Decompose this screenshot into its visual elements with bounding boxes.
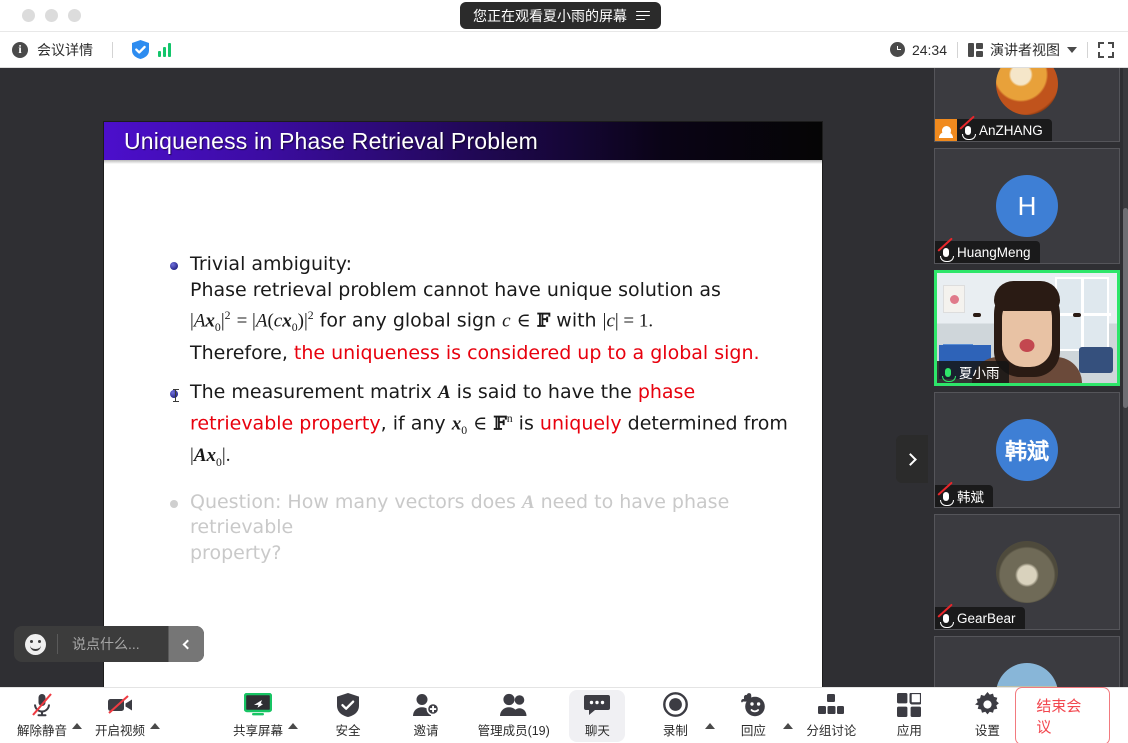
close-button[interactable] [22, 9, 35, 22]
slide-bullet-1-text: Trivial ambiguity: Phase retrieval probl… [190, 252, 760, 366]
slide-bullet-3-text: Question: How many vectors does A need t… [190, 490, 792, 567]
bullet-dot-icon [170, 262, 178, 270]
participants-icon [500, 692, 528, 717]
bullet-dot-icon [170, 500, 178, 508]
meeting-infobar: i 会议详情 24:34 演讲者视图 [0, 32, 1128, 68]
bullet1-line4: Therefore, the uniqueness is considered … [190, 341, 760, 367]
toolbar-video-button[interactable]: 开启视频 [92, 690, 148, 742]
bullet1-line2: Phase retrieval problem cannot have uniq… [190, 279, 721, 301]
participant-tile-active-speaker[interactable]: 夏小雨 [934, 270, 1120, 386]
avatar: 韩斌 [996, 419, 1058, 481]
toolbar-chat-label: 聊天 [585, 720, 610, 739]
chevron-right-icon [904, 453, 917, 466]
participant-tile[interactable]: H HuangMeng [934, 148, 1120, 264]
infobar-right-controls: 24:34 演讲者视图 [890, 40, 1114, 60]
toolbar-security-button[interactable]: 安全 [320, 690, 376, 742]
end-meeting-button[interactable]: 结束会议 [1015, 687, 1110, 743]
avatar: H [996, 175, 1058, 237]
slide-bullet-2-text: The measurement matrix A is said to have… [190, 380, 792, 475]
share-screen-icon [244, 692, 272, 717]
chevron-left-icon [183, 639, 193, 649]
participant-label: 韩斌 [935, 485, 993, 507]
chat-compose-bar[interactable]: 说点什么... [14, 626, 204, 662]
mute-options-chevron-icon[interactable] [72, 723, 82, 729]
wall-picture-prop [943, 285, 965, 313]
bullet2-part4: is [513, 412, 540, 434]
participant-tile[interactable]: AnZHANG [934, 68, 1120, 142]
filmstrip-scrollbar[interactable] [1123, 68, 1128, 687]
toolbar-apps-label: 应用 [897, 720, 922, 739]
person-eye [973, 313, 981, 317]
person-mouth [1020, 339, 1035, 352]
toolbar-reactions-label: 回应 [741, 720, 766, 739]
meeting-timer-value: 24:34 [912, 42, 947, 58]
toolbar-mute-label: 解除静音 [17, 720, 67, 739]
participant-tile[interactable] [934, 636, 1120, 687]
info-icon: i [12, 42, 28, 58]
signal-strength-icon[interactable] [158, 43, 171, 57]
bullet3-part3: property? [190, 542, 281, 564]
host-badge-icon [935, 119, 957, 141]
bullet1-formula: |Ax0|2 = |A(cx0)|2 for any global sign c… [190, 303, 760, 341]
bullet3-part1: Question: How many vectors does [190, 491, 522, 513]
participant-tile[interactable]: 韩斌 韩斌 [934, 392, 1120, 508]
person-eye [1073, 313, 1081, 317]
slide-bullet-2: The measurement matrix A is said to have… [170, 380, 792, 475]
bullet1-line4-red: the uniqueness is considered up to a glo… [294, 342, 760, 364]
window-titlebar: 您正在观看夏小雨的屏幕 [0, 0, 1128, 32]
microphone-muted-icon [935, 614, 957, 623]
zoom-meeting-window: 您正在观看夏小雨的屏幕 i 会议详情 24:34 演讲者视图 [0, 0, 1128, 743]
invite-person-icon [413, 692, 439, 717]
participant-filmstrip[interactable]: AnZHANG H HuangMeng [928, 68, 1128, 687]
slide-body: Trivial ambiguity: Phase retrieval probl… [104, 164, 822, 566]
toolbar-breakout-label: 分组讨论 [806, 720, 856, 739]
chat-input-placeholder[interactable]: 说点什么... [58, 634, 168, 654]
microphone-muted-icon [935, 492, 957, 501]
maximize-button[interactable] [68, 9, 81, 22]
toolbar-record-label: 录制 [663, 720, 688, 739]
divider [1087, 42, 1088, 58]
chair-prop [1079, 347, 1113, 373]
shared-screen-stage[interactable]: Uniqueness in Phase Retrieval Problem Tr… [0, 68, 928, 687]
presentation-slide: Uniqueness in Phase Retrieval Problem Tr… [104, 122, 822, 687]
fullscreen-icon[interactable] [1098, 42, 1114, 58]
bullet2-red3: uniquely [540, 412, 622, 434]
layout-icon [968, 43, 983, 57]
toolbar-breakout-button[interactable]: 分组讨论 [803, 690, 859, 742]
divider [112, 42, 113, 58]
view-mode-label: 演讲者视图 [990, 40, 1060, 60]
toolbar-settings-label: 设置 [975, 720, 1000, 739]
toolbar-apps-button[interactable]: 应用 [881, 690, 937, 742]
participant-name: 韩斌 [957, 486, 984, 506]
participant-tile[interactable]: GearBear [934, 514, 1120, 630]
clock-icon [890, 42, 905, 57]
microphone-active-icon [937, 368, 959, 377]
avatar [996, 663, 1058, 687]
shield-icon [337, 692, 359, 717]
toolbar-security-label: 安全 [335, 720, 360, 739]
microphone-muted-icon [957, 126, 979, 135]
window-prop [1055, 277, 1109, 351]
microphone-muted-icon [31, 692, 53, 717]
participant-label: HuangMeng [935, 241, 1040, 263]
slide-title: Uniqueness in Phase Retrieval Problem [124, 128, 538, 155]
text-cursor-icon [175, 389, 176, 402]
emoji-smiley-icon[interactable] [25, 634, 46, 655]
toolbar-invite-label: 邀请 [413, 720, 438, 739]
bullet2-part5: determined from [622, 412, 788, 434]
meeting-details-label: 会议详情 [37, 40, 93, 60]
person-bangs [994, 281, 1060, 311]
gear-icon [975, 692, 1000, 717]
toolbar-share-screen-button[interactable]: 共享屏幕 [230, 690, 286, 742]
minimize-button[interactable] [45, 9, 58, 22]
slide-title-bar: Uniqueness in Phase Retrieval Problem [104, 122, 822, 160]
avatar [996, 541, 1058, 603]
participant-name: 夏小雨 [959, 362, 1000, 382]
bullet-dot-icon [170, 390, 178, 398]
chat-bubble-icon [584, 692, 610, 717]
record-options-chevron-icon[interactable] [705, 723, 715, 729]
breakout-rooms-icon [818, 692, 844, 717]
apps-grid-icon [897, 692, 921, 717]
reactions-hand-icon [740, 692, 767, 717]
toolbar-reactions-button[interactable]: 回应 [725, 690, 781, 742]
microphone-muted-icon [935, 248, 957, 257]
bullet2-part1: The measurement matrix [190, 381, 438, 403]
record-icon [663, 692, 688, 717]
hamburger-menu-icon[interactable] [636, 11, 650, 21]
slide-bullet-3: Question: How many vectors does A need t… [170, 490, 792, 567]
meeting-toolbar: 解除静音 开启视频 共享屏幕 安全 邀请 [0, 687, 1128, 743]
video-off-icon [107, 692, 133, 717]
window-controls[interactable] [22, 9, 81, 22]
bullet1-line1: Trivial ambiguity: [190, 253, 352, 275]
chevron-down-icon[interactable] [1067, 47, 1077, 53]
participant-name: HuangMeng [957, 245, 1031, 260]
participant-name: AnZHANG [979, 123, 1043, 138]
meeting-details-button[interactable]: i 会议详情 [12, 40, 171, 60]
bullet2-part3: , if any [381, 412, 452, 434]
avatar [996, 68, 1058, 115]
participant-label: AnZHANG [935, 119, 1052, 141]
participant-name: GearBear [957, 611, 1016, 626]
bullet2-red2: property [299, 412, 380, 434]
reactions-options-chevron-icon[interactable] [783, 723, 793, 729]
toolbar-record-button[interactable]: 录制 [647, 690, 703, 742]
toolbar-settings-button[interactable]: 设置 [959, 690, 1015, 742]
toolbar-mute-button[interactable]: 解除静音 [14, 690, 70, 742]
expand-panel-handle[interactable] [896, 435, 928, 483]
toolbar-video-label: 开启视频 [95, 720, 145, 739]
view-mode-selector[interactable]: 演讲者视图 [968, 40, 1077, 60]
screen-share-banner-label: 您正在观看夏小雨的屏幕 [473, 9, 627, 23]
bullet2-part2: is said to have the [451, 381, 638, 403]
toolbar-share-screen-label: 共享屏幕 [233, 720, 283, 739]
toolbar-participants-button[interactable]: 管理成员(19) [476, 690, 551, 742]
toolbar-chat-button[interactable]: 聊天 [569, 690, 625, 742]
chat-collapse-button[interactable] [168, 626, 204, 662]
shield-check-icon[interactable] [132, 40, 149, 59]
meeting-timer: 24:34 [890, 42, 947, 58]
divider [957, 42, 958, 58]
screen-share-banner[interactable]: 您正在观看夏小雨的屏幕 [460, 2, 661, 29]
slide-bullet-1: Trivial ambiguity: Phase retrieval probl… [170, 252, 792, 366]
share-options-chevron-icon[interactable] [288, 723, 298, 729]
participant-label: 夏小雨 [937, 361, 1009, 383]
toolbar-participants-label: 管理成员(19) [478, 720, 550, 739]
bullet1-line4-prefix: Therefore, [190, 342, 294, 364]
participant-label: GearBear [935, 607, 1025, 629]
scrollbar-thumb[interactable] [1123, 208, 1128, 408]
toolbar-invite-button[interactable]: 邀请 [398, 690, 454, 742]
video-options-chevron-icon[interactable] [150, 723, 160, 729]
